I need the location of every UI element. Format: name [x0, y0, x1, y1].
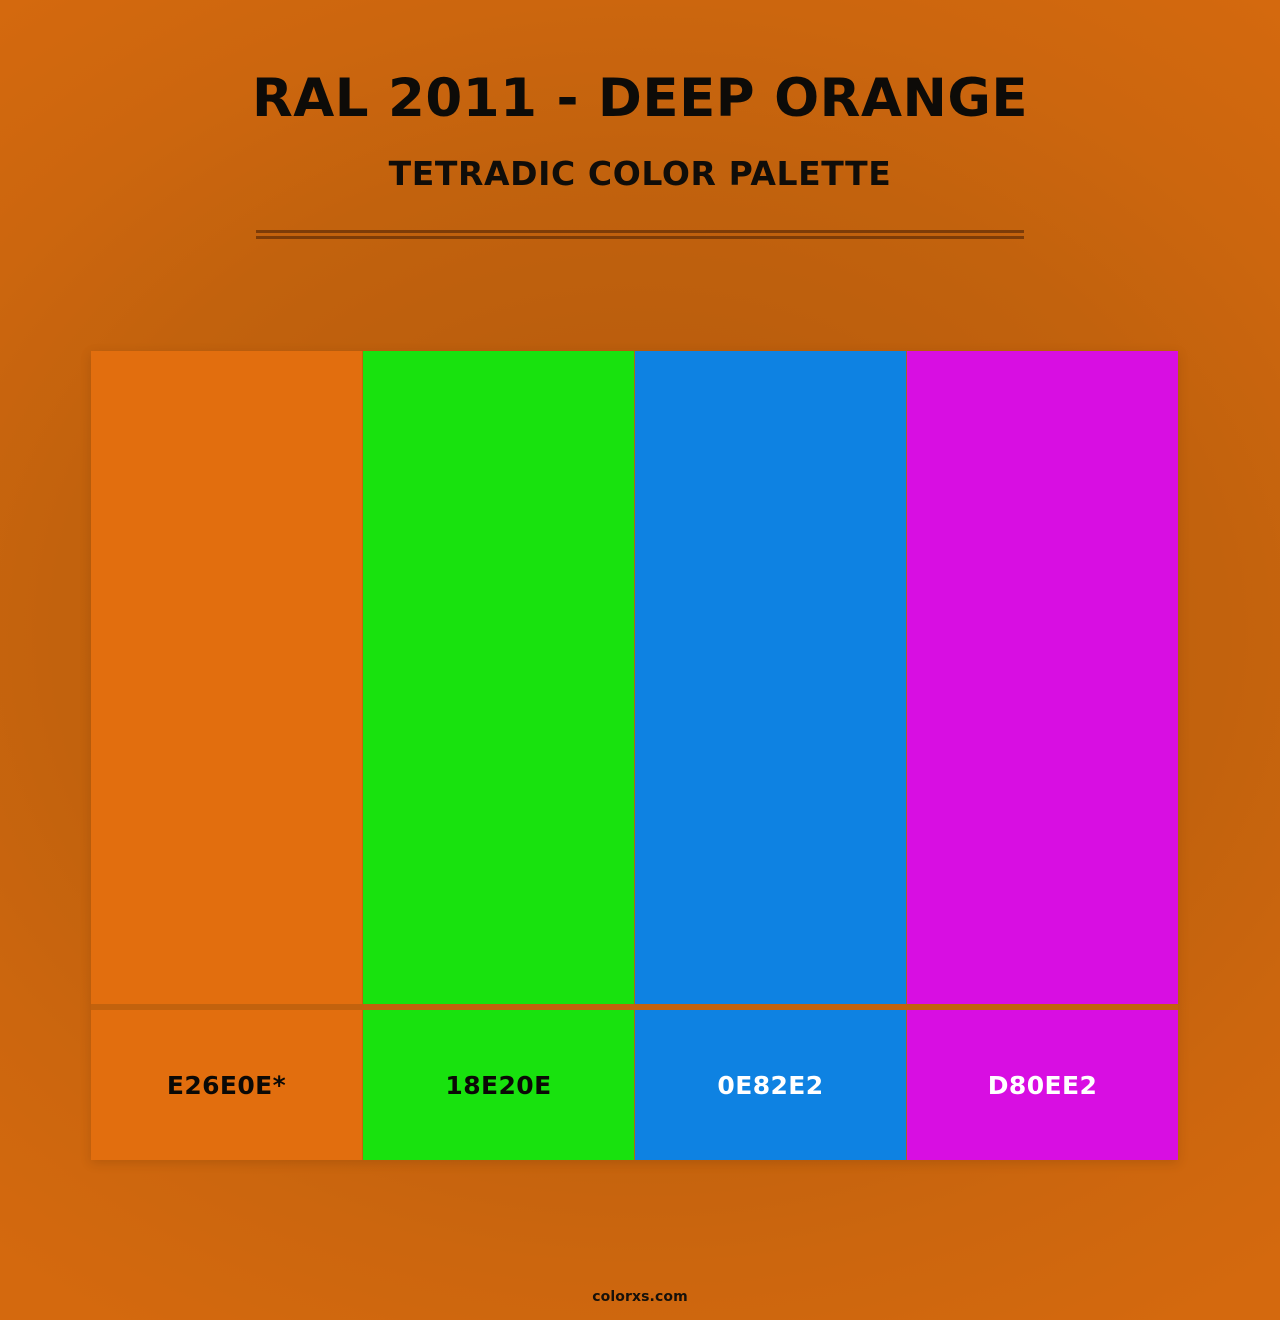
color-swatch-magenta[interactable] — [907, 351, 1178, 1004]
page-subtitle: TETRADIC COLOR PALETTE — [0, 125, 1280, 190]
rule-line-lower — [256, 236, 1024, 239]
title-divider-rule — [256, 230, 1024, 240]
palette-label-row: E26E0E* 18E20E 0E82E2 D80EE2 — [91, 1010, 1178, 1160]
rule-line-upper — [256, 230, 1024, 233]
palette-swatch-row — [91, 351, 1178, 1004]
color-hex-label: 18E20E — [445, 1073, 551, 1098]
page-header: RAL 2011 - DEEP ORANGE TETRADIC COLOR PA… — [0, 0, 1280, 190]
color-label-cell-deep-orange[interactable]: E26E0E* — [91, 1010, 363, 1160]
color-label-cell-blue[interactable]: 0E82E2 — [635, 1010, 907, 1160]
page-footer: colorxs.com — [0, 1286, 1280, 1305]
palette-grid: E26E0E* 18E20E 0E82E2 D80EE2 — [91, 351, 1178, 1160]
color-swatch-blue[interactable] — [635, 351, 907, 1004]
color-label-cell-magenta[interactable]: D80EE2 — [907, 1010, 1178, 1160]
color-swatch-deep-orange[interactable] — [91, 351, 363, 1004]
color-palette-page: RAL 2011 - DEEP ORANGE TETRADIC COLOR PA… — [0, 0, 1280, 1320]
color-hex-label: E26E0E* — [167, 1073, 286, 1098]
page-title: RAL 2011 - DEEP ORANGE — [0, 0, 1280, 125]
color-hex-label: D80EE2 — [988, 1073, 1098, 1098]
site-credit: colorxs.com — [592, 1289, 688, 1305]
color-swatch-green[interactable] — [363, 351, 635, 1004]
color-label-cell-green[interactable]: 18E20E — [363, 1010, 635, 1160]
color-hex-label: 0E82E2 — [717, 1073, 823, 1098]
